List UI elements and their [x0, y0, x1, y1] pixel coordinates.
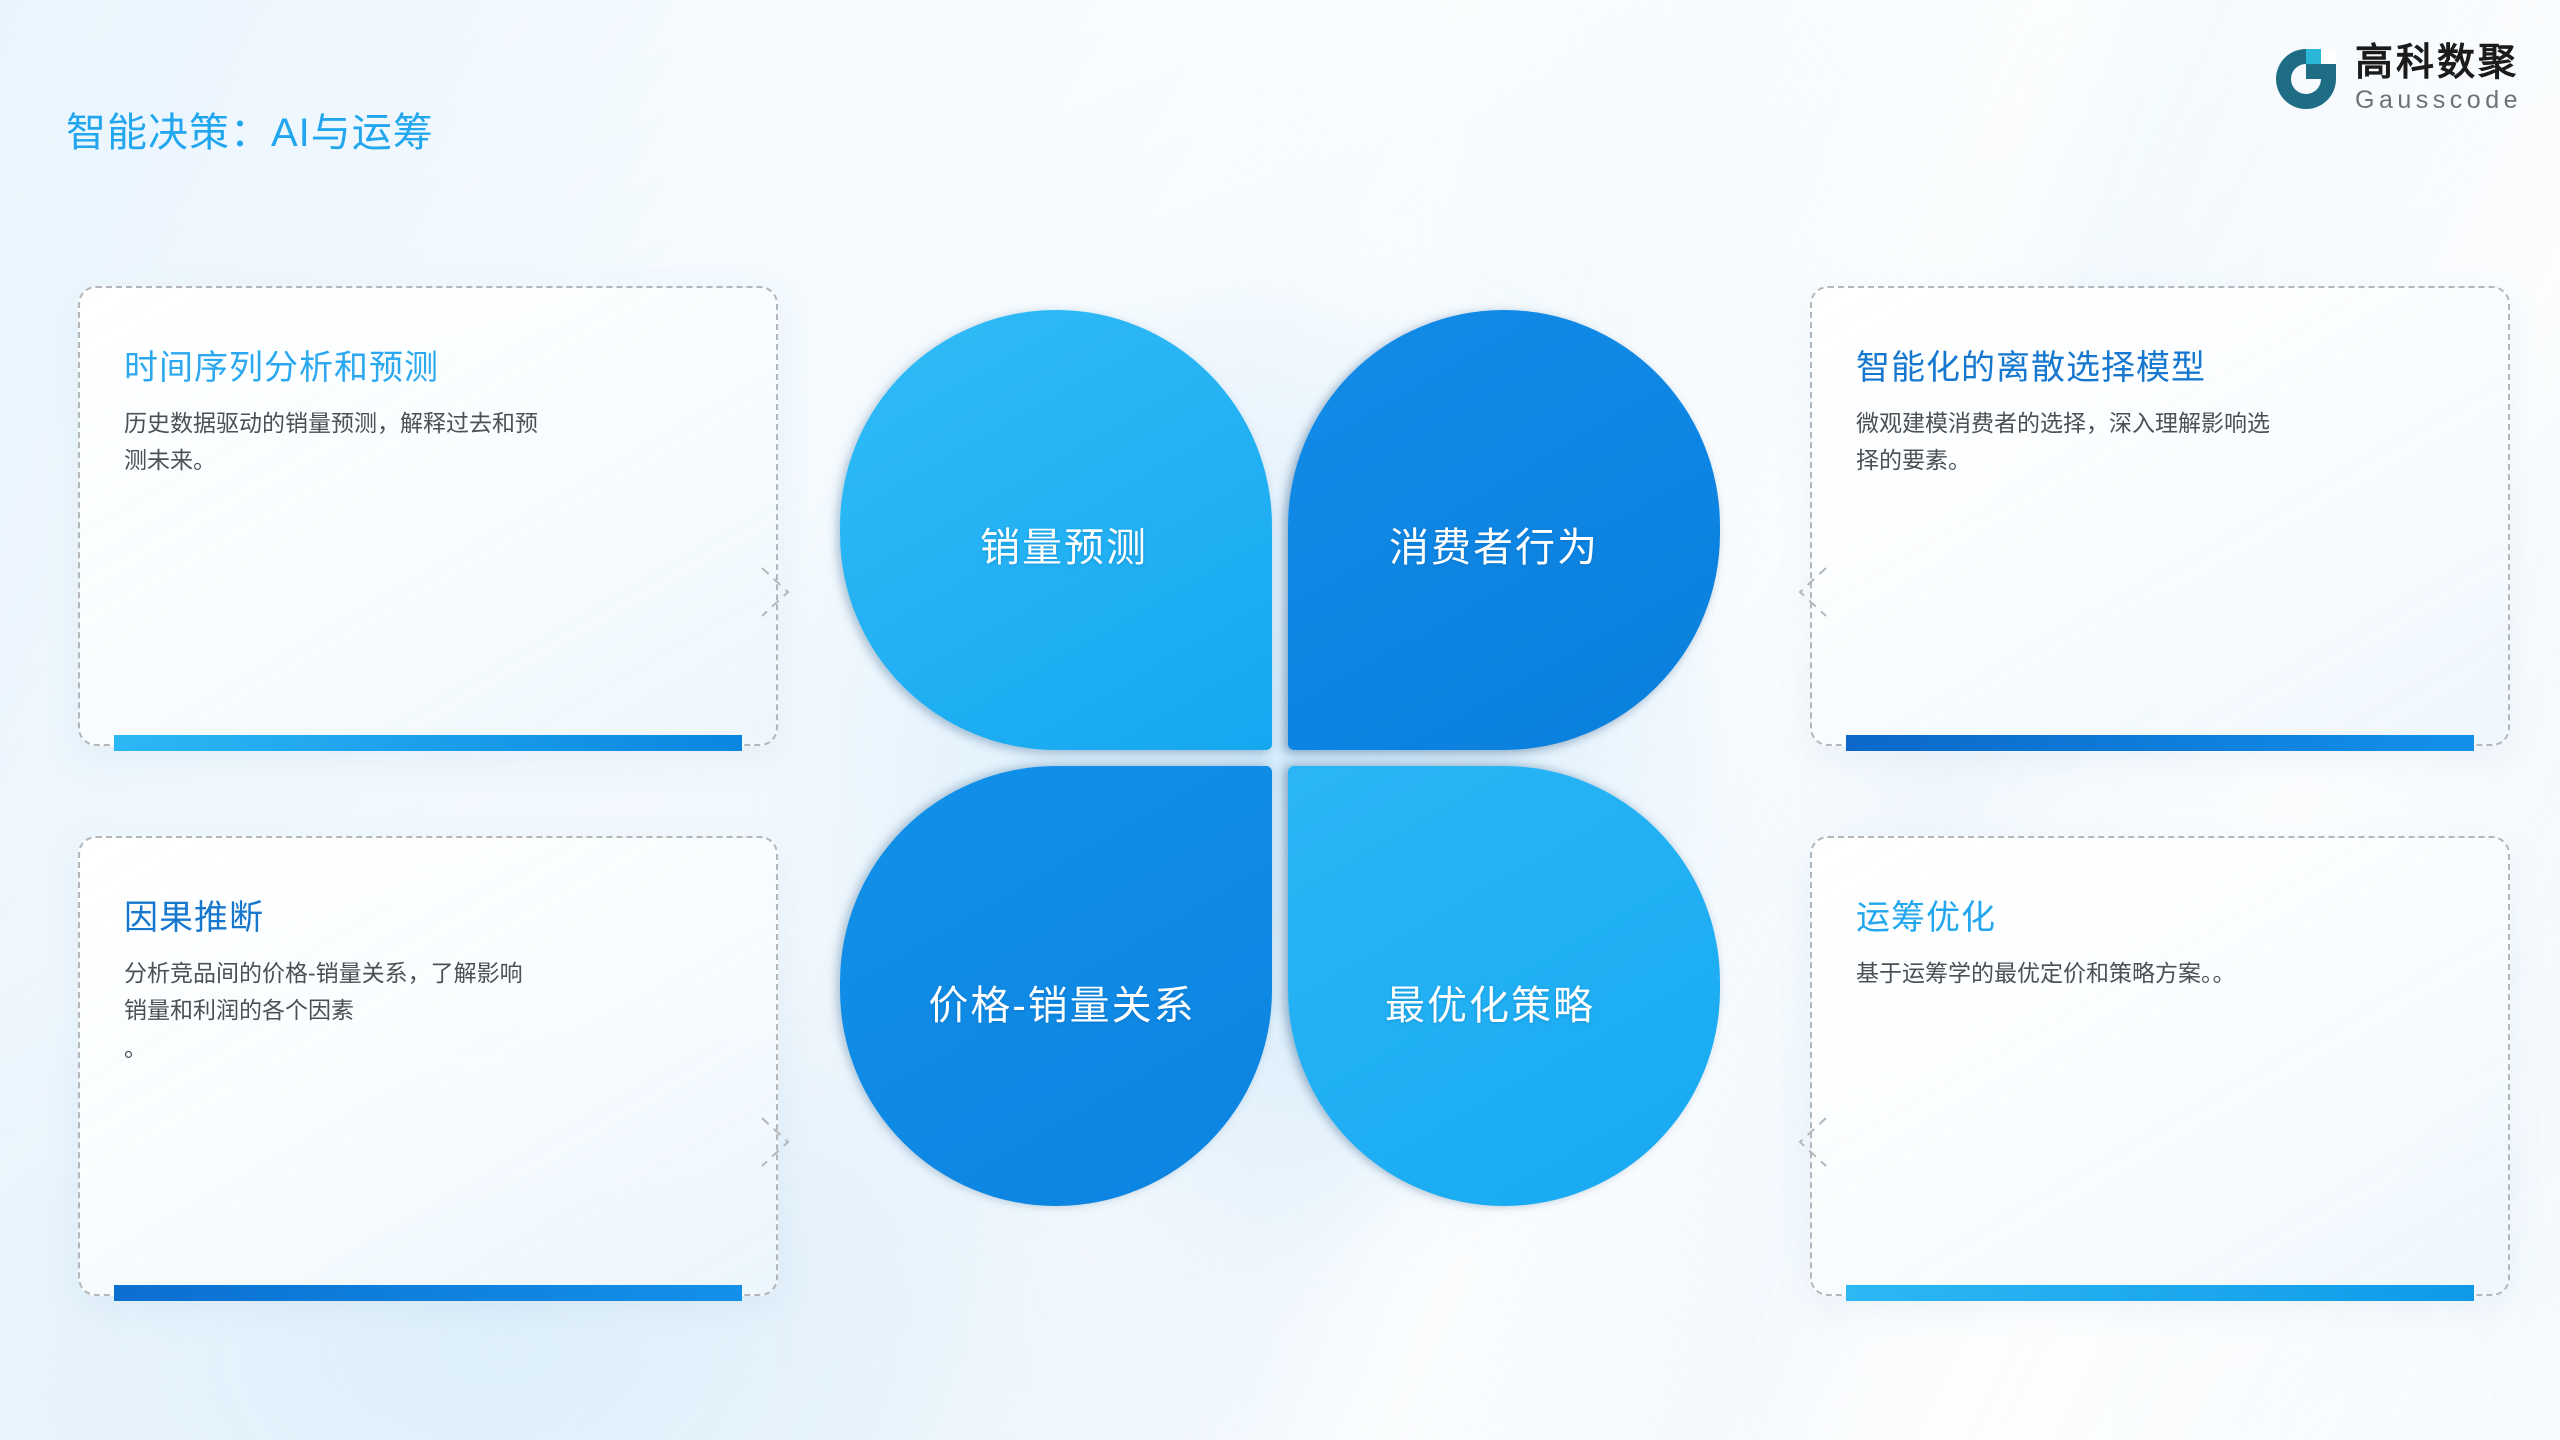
gausscode-logo-icon — [2273, 46, 2339, 112]
card-accent-bar — [114, 1285, 742, 1301]
card-title: 智能化的离散选择模型 — [1856, 340, 2464, 389]
card-content: 因果推断 分析竞品间的价格-销量关系，了解影响 销量和利润的各个因素 。 — [80, 838, 776, 1294]
petal-label: 最优化策略 — [1385, 973, 1595, 1031]
feature-card-causal-inference[interactable]: 因果推断 分析竞品间的价格-销量关系，了解影响 销量和利润的各个因素 。 — [78, 836, 778, 1296]
chevron-right-icon — [758, 1114, 798, 1170]
feature-card-time-series[interactable]: 时间序列分析和预测 历史数据驱动的销量预测，解释过去和预 测未来。 — [78, 286, 778, 746]
slide-root: 智能决策：AI与运筹 高科数聚 Gausscode 时间序列分析和预测 历史数据… — [0, 0, 2560, 1440]
petal-label: 消费者行为 — [1389, 515, 1599, 573]
petal-label: 销量预测 — [980, 515, 1148, 573]
card-description: 历史数据驱动的销量预测，解释过去和预 测未来。 — [124, 405, 724, 480]
card-description: 微观建模消费者的选择，深入理解影响选 择的要素。 — [1856, 405, 2456, 480]
petal-consumer-behavior[interactable]: 消费者行为 — [1288, 310, 1720, 750]
logo-text: 高科数聚 Gausscode — [2355, 44, 2522, 113]
chevron-left-icon — [1790, 1114, 1830, 1170]
card-title: 运筹优化 — [1856, 890, 2464, 939]
logo-name-cn: 高科数聚 — [2355, 44, 2522, 82]
card-accent-bar — [1846, 1285, 2474, 1301]
petal-optimal-strategy[interactable]: 最优化策略 — [1288, 766, 1720, 1206]
petal-label: 价格-销量关系 — [928, 973, 1195, 1031]
card-accent-bar — [114, 735, 742, 751]
chevron-right-icon — [758, 564, 798, 620]
card-content: 时间序列分析和预测 历史数据驱动的销量预测，解释过去和预 测未来。 — [80, 288, 776, 744]
card-content: 运筹优化 基于运筹学的最优定价和策略方案。。 — [1812, 838, 2508, 1294]
card-content: 智能化的离散选择模型 微观建模消费者的选择，深入理解影响选 择的要素。 — [1812, 288, 2508, 744]
card-description: 分析竞品间的价格-销量关系，了解影响 销量和利润的各个因素 。 — [124, 955, 724, 1067]
card-accent-bar — [1846, 735, 2474, 751]
petal-price-sales-relation[interactable]: 价格-销量关系 — [840, 766, 1272, 1206]
petal-sales-forecast[interactable]: 销量预测 — [840, 310, 1272, 750]
brand-logo: 高科数聚 Gausscode — [2273, 44, 2522, 113]
feature-card-discrete-choice[interactable]: 智能化的离散选择模型 微观建模消费者的选择，深入理解影响选 择的要素。 — [1810, 286, 2510, 746]
chevron-left-icon — [1790, 564, 1830, 620]
card-title: 因果推断 — [124, 890, 732, 939]
logo-name-en: Gausscode — [2355, 88, 2522, 113]
feature-card-operations-research[interactable]: 运筹优化 基于运筹学的最优定价和策略方案。。 — [1810, 836, 2510, 1296]
card-description: 基于运筹学的最优定价和策略方案。。 — [1856, 955, 2456, 992]
card-title: 时间序列分析和预测 — [124, 340, 732, 389]
page-title: 智能决策：AI与运筹 — [66, 100, 434, 158]
four-petal-diagram: 销量预测 消费者行为 价格-销量关系 最优化策略 — [840, 310, 1720, 1210]
